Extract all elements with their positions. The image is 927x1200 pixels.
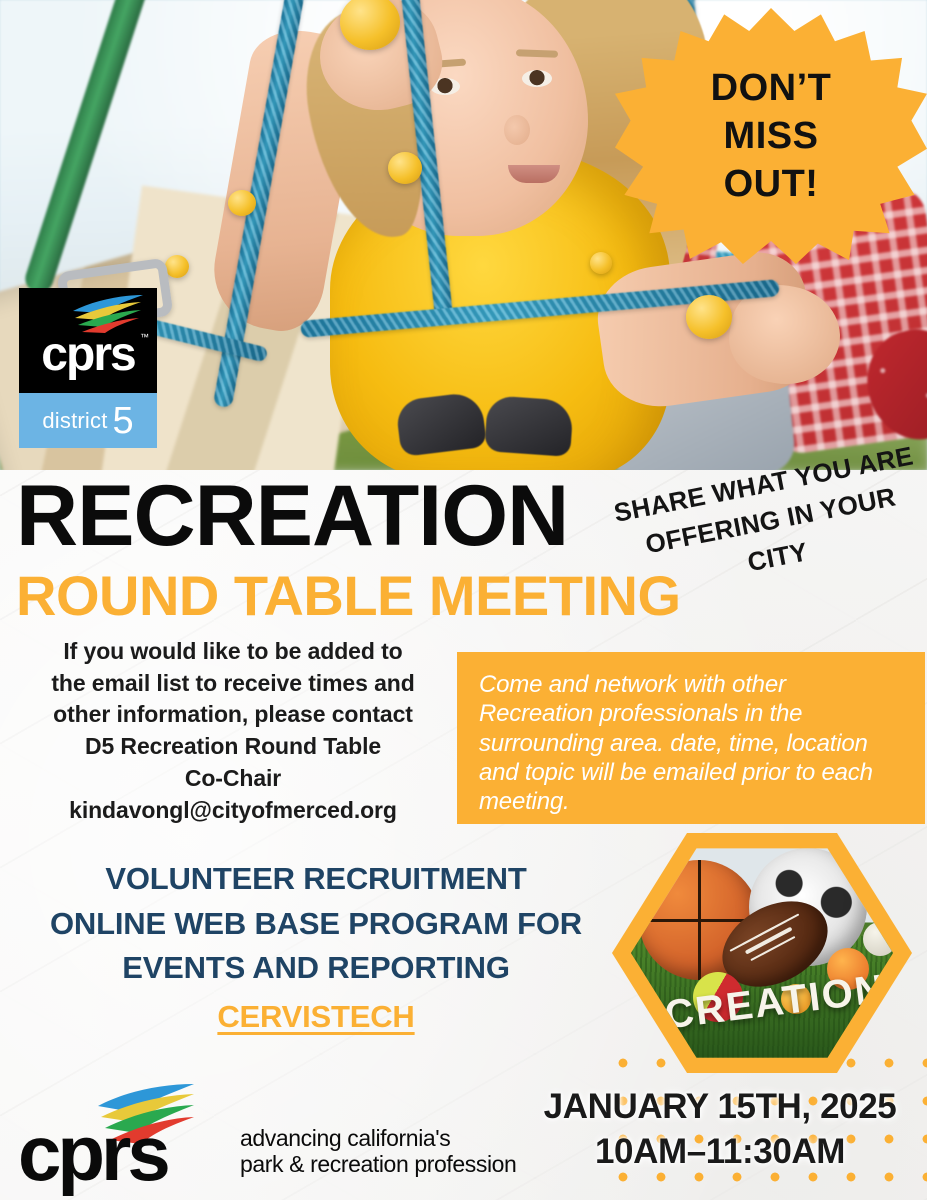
logo-district-panel: district 5 bbox=[19, 393, 157, 448]
contact-line-2: the email list to receive times and bbox=[14, 668, 452, 700]
logo-wordmark: cprs bbox=[27, 331, 149, 379]
event-time: 10AM–11:30AM bbox=[520, 1130, 920, 1175]
program-block: VOLUNTEER RECRUITMENT ONLINE WEB BASE PR… bbox=[16, 857, 616, 1040]
cprs-district5-logo: cprs ™ district 5 bbox=[19, 288, 157, 448]
info-callout-box: Come and network with other Recreation p… bbox=[457, 652, 925, 824]
contact-block: If you would like to be added to the ema… bbox=[14, 636, 452, 826]
photo-rope-knob-4 bbox=[686, 295, 732, 339]
page-subtitle: ROUND TABLE MEETING bbox=[16, 568, 681, 624]
footer-tagline-line-2: park & recreation profession bbox=[240, 1152, 516, 1178]
contact-email[interactable]: kindavongl@cityofmerced.org bbox=[14, 795, 452, 827]
contact-line-5: Co-Chair bbox=[14, 763, 452, 795]
program-line-3: EVENTS AND REPORTING bbox=[16, 946, 616, 991]
badge-line-2: MISS bbox=[724, 117, 819, 155]
contact-line-4: D5 Recreation Round Table bbox=[14, 731, 452, 763]
cervistech-link[interactable]: CERVISTECH bbox=[217, 995, 414, 1040]
logo-trademark: ™ bbox=[140, 332, 149, 342]
flyer-canvas: DON’T MISS OUT! cprs ™ district 5 RECREA… bbox=[0, 0, 927, 1200]
event-datetime-block: JANUARY 15TH, 2025 10AM–11:30AM bbox=[520, 1085, 920, 1175]
photo-shoe-right bbox=[484, 395, 574, 457]
contact-line-1: If you would like to be added to bbox=[14, 636, 452, 668]
cprs-footer-logo: cprs advancing california's park & recre… bbox=[18, 1092, 518, 1192]
badge-line-1: DON’T bbox=[711, 69, 832, 107]
info-callout-text: Come and network with other Recreation p… bbox=[479, 670, 905, 816]
photo-rope-knob-5 bbox=[165, 255, 189, 278]
logo-district-label: district bbox=[42, 408, 107, 434]
event-date: JANUARY 15TH, 2025 bbox=[520, 1085, 920, 1130]
program-line-1: VOLUNTEER RECRUITMENT bbox=[16, 857, 616, 902]
footer-tagline-line-1: advancing california's bbox=[240, 1126, 516, 1152]
photo-rope-knob-2 bbox=[388, 152, 422, 184]
logo-district-number: 5 bbox=[113, 402, 134, 440]
photo-rope-knob-3 bbox=[228, 190, 256, 216]
program-line-2: ONLINE WEB BASE PROGRAM FOR bbox=[16, 902, 616, 947]
photo-girl-eye-right bbox=[522, 70, 552, 87]
logo-black-panel: cprs ™ bbox=[19, 288, 157, 393]
badge-line-3: OUT! bbox=[724, 165, 819, 203]
photo-rope-knob-6 bbox=[590, 252, 612, 274]
contact-line-3: other information, please contact bbox=[14, 699, 452, 731]
footer-logo-tagline: advancing california's park & recreation… bbox=[240, 1126, 516, 1178]
page-title: RECREATION bbox=[16, 473, 568, 559]
photo-girl-eyebrow-right bbox=[516, 49, 558, 57]
photo-girl-nose bbox=[504, 115, 530, 145]
footer-logo-wordmark: cprs bbox=[18, 1114, 167, 1192]
